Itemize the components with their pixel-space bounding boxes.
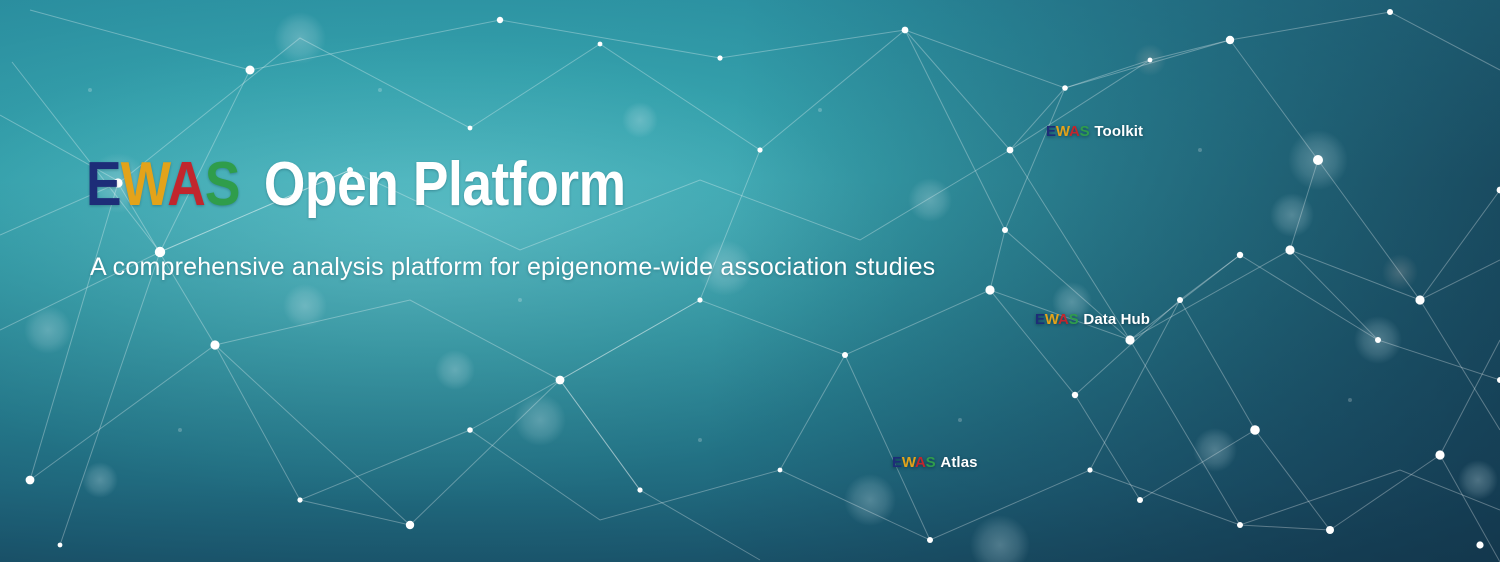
brand-letter-w: W: [121, 150, 168, 219]
module-toolkit-brand: EWAS: [1046, 123, 1089, 140]
page-title-rest: Open Platform: [264, 150, 626, 219]
brand-letter-e: E: [892, 454, 902, 471]
brand-letter-w: W: [1056, 123, 1069, 140]
module-toolkit-name: Toolkit: [1094, 123, 1143, 140]
module-datahub-name: Data Hub: [1083, 311, 1150, 328]
module-label-data-hub[interactable]: EWASData Hub: [1035, 311, 1150, 328]
module-label-atlas[interactable]: EWASAtlas: [892, 454, 978, 471]
brand-letter-w: W: [1045, 311, 1058, 328]
page-title-brand: EWAS: [86, 150, 254, 219]
brand-letter-s: S: [205, 150, 240, 219]
brand-letter-a: A: [1058, 311, 1069, 328]
brand-letter-w: W: [902, 454, 915, 471]
banner-content: EWAS Open Platform A comprehensive analy…: [0, 0, 1500, 562]
page-subtitle: A comprehensive analysis platform for ep…: [90, 253, 935, 282]
module-atlas-brand: EWAS: [892, 454, 935, 471]
module-datahub-brand: EWAS: [1035, 311, 1078, 328]
module-label-toolkit[interactable]: EWASToolkit: [1046, 123, 1143, 140]
brand-letter-s: S: [926, 454, 936, 471]
brand-letter-a: A: [915, 454, 926, 471]
brand-letter-e: E: [1035, 311, 1045, 328]
brand-letter-s: S: [1069, 311, 1079, 328]
brand-letter-a: A: [1069, 123, 1080, 140]
brand-letter-s: S: [1080, 123, 1090, 140]
brand-letter-e: E: [86, 150, 121, 219]
ewas-open-platform-banner: EWAS Open Platform A comprehensive analy…: [0, 0, 1500, 562]
module-atlas-name: Atlas: [940, 454, 977, 471]
page-title: EWAS Open Platform: [86, 154, 626, 216]
brand-letter-e: E: [1046, 123, 1056, 140]
brand-letter-a: A: [167, 150, 205, 219]
